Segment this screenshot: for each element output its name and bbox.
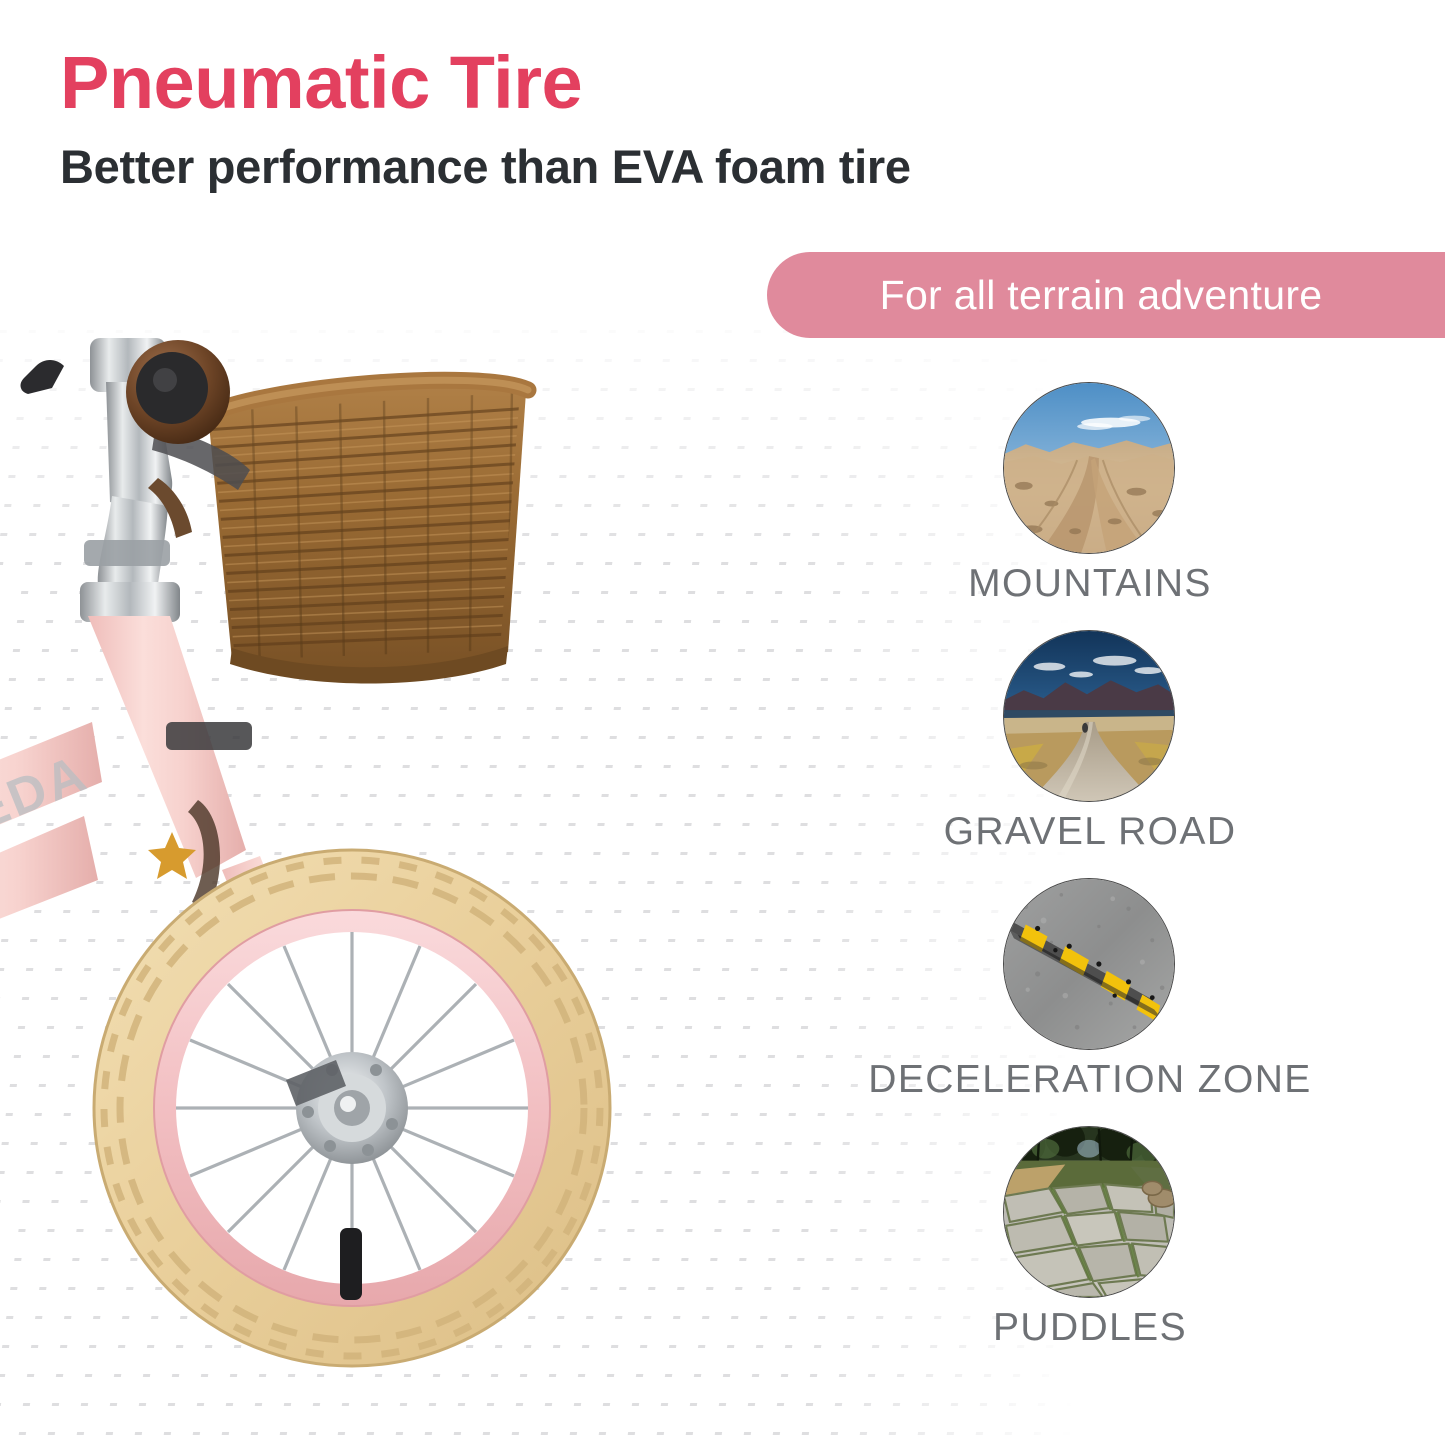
terrain-label-deceleration-zone: DECELERATION ZONE xyxy=(790,1058,1390,1102)
terrain-item-gravel-road: GRAVEL ROAD xyxy=(790,630,1390,878)
terrain-item-puddles: PUDDLES xyxy=(790,1126,1390,1374)
terrain-item-mountains: MOUNTAINS xyxy=(790,382,1390,630)
bike-front-wheel xyxy=(94,850,610,1366)
page-title: Pneumatic Tire xyxy=(60,46,582,120)
terrain-banner: For all terrain adventure xyxy=(767,252,1445,338)
stone-path-photo-icon xyxy=(1003,1126,1175,1298)
infographic-canvas: ADEDA xyxy=(0,0,1445,1445)
product-bicycle-image: ADEDA xyxy=(0,330,680,1420)
bike-basket xyxy=(204,380,532,683)
gravel-road-photo-icon xyxy=(1003,630,1175,802)
terrain-list: MOUNTAINS xyxy=(790,382,1390,1374)
terrain-label-gravel-road: GRAVEL ROAD xyxy=(790,810,1390,854)
speed-bump-photo-icon xyxy=(1003,878,1175,1050)
mountains-photo-icon xyxy=(1003,382,1175,554)
terrain-label-puddles: PUDDLES xyxy=(790,1306,1390,1350)
bike-bell xyxy=(126,340,230,444)
terrain-banner-label: For all terrain adventure xyxy=(880,272,1323,319)
terrain-label-mountains: MOUNTAINS xyxy=(790,562,1390,606)
page-subtitle: Better performance than EVA foam tire xyxy=(60,143,911,190)
terrain-item-deceleration-zone: DECELERATION ZONE xyxy=(790,878,1390,1126)
